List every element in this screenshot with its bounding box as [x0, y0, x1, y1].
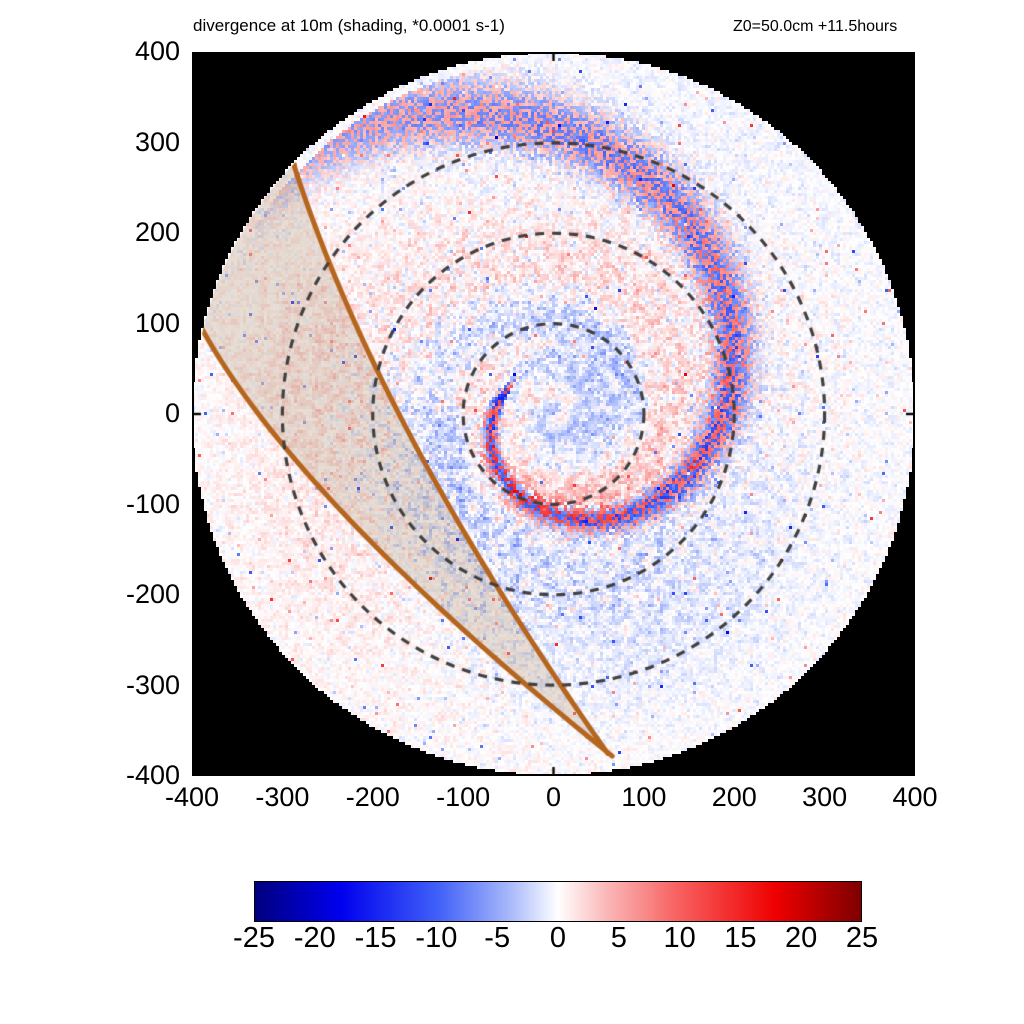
y-tick-label: 0 [118, 400, 180, 427]
y-axis-labels: 4003002001000-100-200-300-400 [112, 0, 180, 1024]
chart-annotation: Z0=50.0cm +11.5hours [733, 18, 897, 36]
colorbar-tick-label: 25 [822, 922, 902, 954]
y-tick-label: -300 [118, 672, 180, 699]
colorbar-gradient [254, 881, 862, 922]
plot-area [192, 52, 915, 776]
y-tick-label: 400 [118, 38, 180, 65]
colorbar [254, 881, 862, 922]
y-tick-label: 200 [118, 219, 180, 246]
colorbar-tick-labels: -25-20-15-10-50510152025 [254, 922, 862, 962]
y-tick-label: 300 [118, 129, 180, 156]
y-tick-label: 100 [118, 310, 180, 337]
x-tick-label: 400 [855, 784, 975, 811]
y-tick-label: -100 [118, 491, 180, 518]
map-overlay [192, 52, 915, 776]
chart-title: divergence at 10m (shading, *0.0001 s-1) [193, 16, 505, 36]
x-axis-labels: -400-300-200-1000100200300400 [0, 784, 1024, 824]
y-tick-label: -200 [118, 581, 180, 608]
figure-panel: divergence at 10m (shading, *0.0001 s-1)… [0, 0, 1024, 1024]
